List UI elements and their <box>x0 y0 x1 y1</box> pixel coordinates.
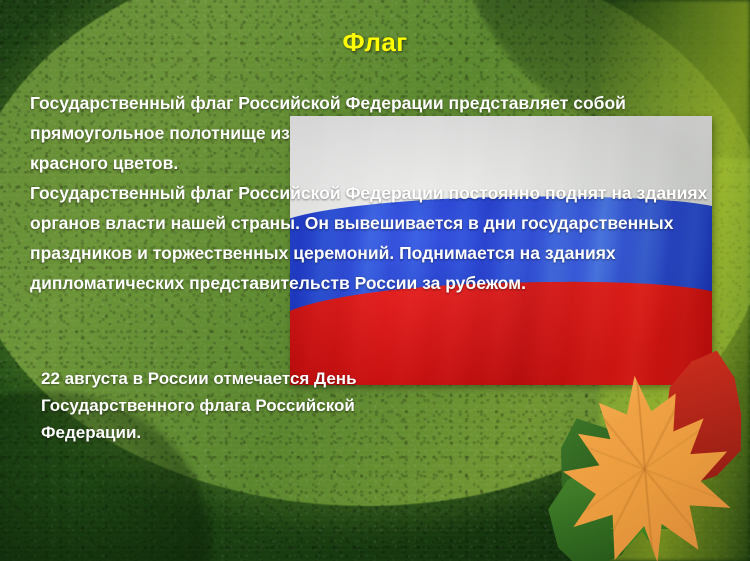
slide-title: Флаг <box>0 27 750 58</box>
paragraph-flag-usage: Государственный флаг Российской Федераци… <box>30 178 720 298</box>
presentation-slide: Флаг Государственный флаг Российской Фед… <box>0 0 750 561</box>
paragraph-flag-day: 22 августа в России отмечается День Госу… <box>41 365 371 446</box>
